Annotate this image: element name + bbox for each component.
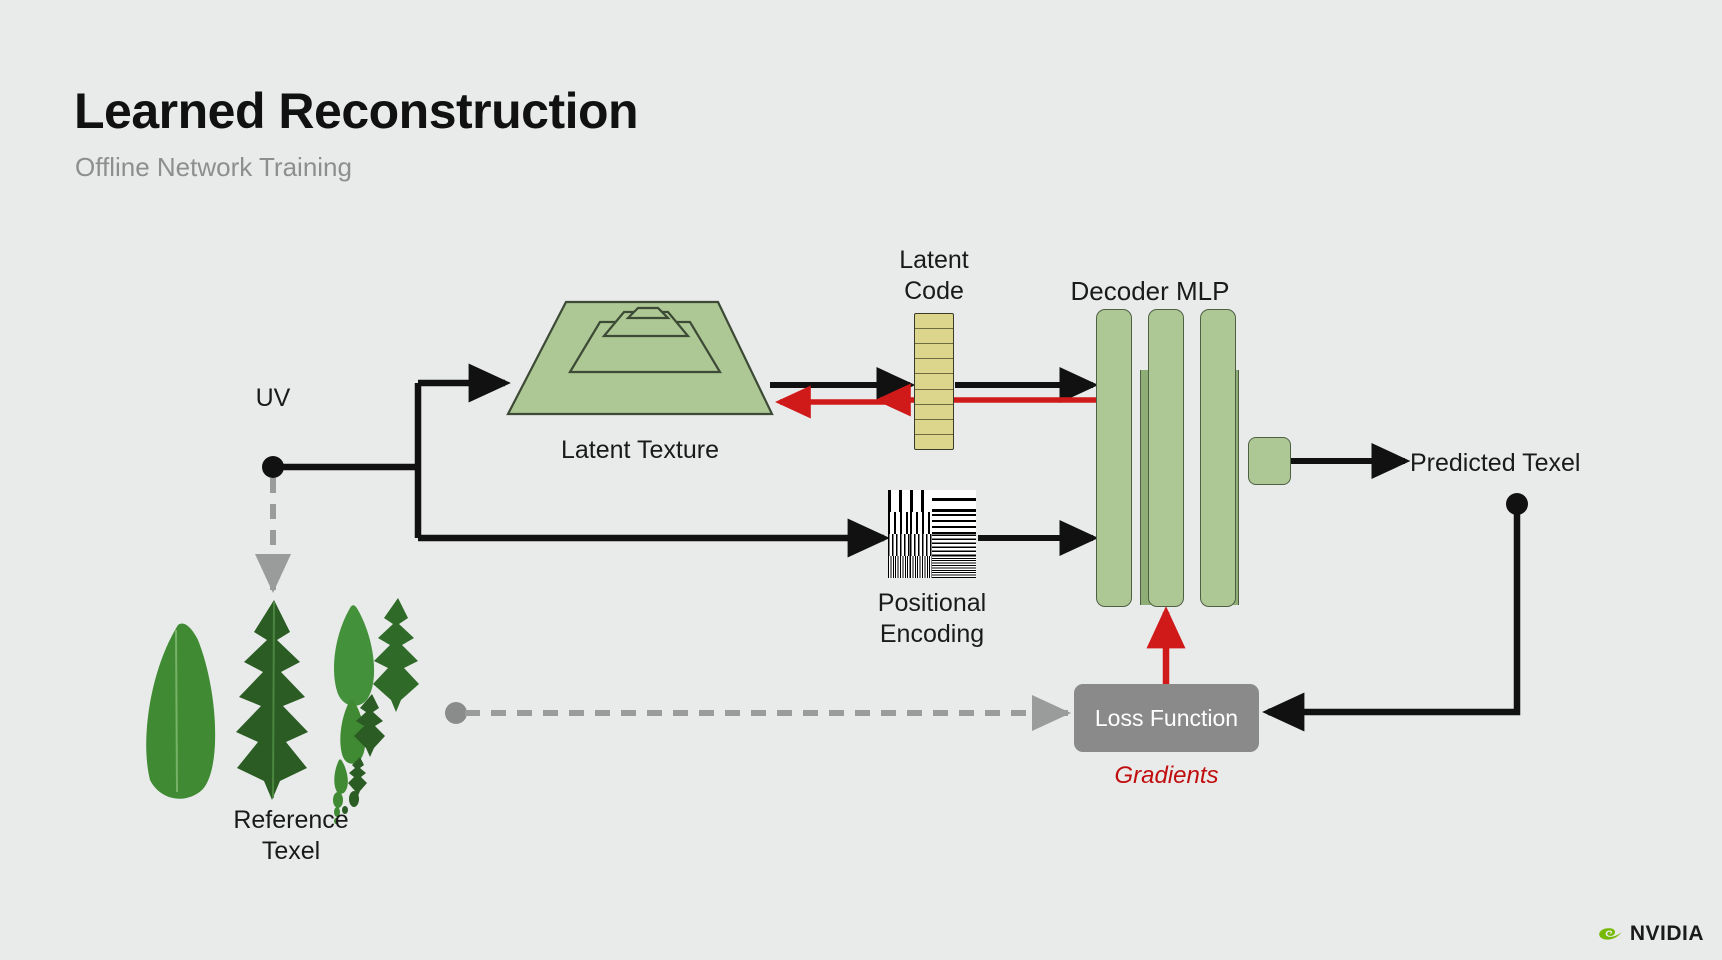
gradients-annotation: Gradients xyxy=(1074,762,1259,790)
latent-code-cell xyxy=(915,344,953,359)
latent-code-cell xyxy=(915,359,953,374)
pe-cell xyxy=(910,534,932,556)
positional-encoding-label: Positional Encoding xyxy=(842,588,1022,651)
pe-cell xyxy=(932,490,954,512)
pe-cell xyxy=(888,490,910,512)
pe-cell xyxy=(932,534,954,556)
latent-code-label: Latent Code xyxy=(844,245,1024,308)
latent-code-cell xyxy=(915,435,953,449)
latent-code-vector[interactable] xyxy=(914,313,954,450)
nvidia-logo: NVIDIA xyxy=(1598,922,1704,946)
positional-encoding-grid[interactable] xyxy=(888,490,976,578)
pe-cell xyxy=(888,512,910,534)
edge-predicted-texel-to-loss xyxy=(1268,504,1517,712)
slide-canvas: Learned Reconstruction Offline Network T… xyxy=(0,0,1722,960)
pe-cell xyxy=(910,512,932,534)
latent-code-cell xyxy=(915,314,953,329)
pe-cell xyxy=(910,490,932,512)
loss-function-label: Loss Function xyxy=(1095,705,1238,732)
predicted-texel-label: Predicted Texel xyxy=(1410,448,1640,479)
pe-cell xyxy=(932,512,954,534)
pe-cell xyxy=(932,556,954,578)
reference-texel-node-dot xyxy=(445,702,467,724)
pe-cell xyxy=(954,556,976,578)
pe-cell xyxy=(954,534,976,556)
nvidia-wordmark: NVIDIA xyxy=(1630,922,1704,946)
latent-code-cell xyxy=(915,329,953,344)
decoder-mlp-label: Decoder MLP xyxy=(1000,275,1300,308)
latent-code-cell xyxy=(915,420,953,435)
mlp-output-node[interactable] xyxy=(1248,437,1291,485)
reference-texel-label: Reference Texel xyxy=(196,805,386,868)
mlp-layer-1[interactable] xyxy=(1096,309,1132,607)
pe-cell xyxy=(888,556,910,578)
pe-cell xyxy=(888,534,910,556)
mlp-layer-2[interactable] xyxy=(1148,309,1184,607)
latent-code-cell xyxy=(915,405,953,420)
latent-code-cell xyxy=(915,390,953,405)
pe-cell xyxy=(954,490,976,512)
mlp-layer-3[interactable] xyxy=(1200,309,1236,607)
pe-cell xyxy=(954,512,976,534)
pe-cell xyxy=(910,556,932,578)
nvidia-eye-icon xyxy=(1598,924,1624,944)
latent-texture-label: Latent Texture xyxy=(500,435,780,466)
uv-label: UV xyxy=(213,383,333,414)
loss-function-box[interactable]: Loss Function xyxy=(1074,684,1259,752)
latent-code-cell xyxy=(915,374,953,389)
